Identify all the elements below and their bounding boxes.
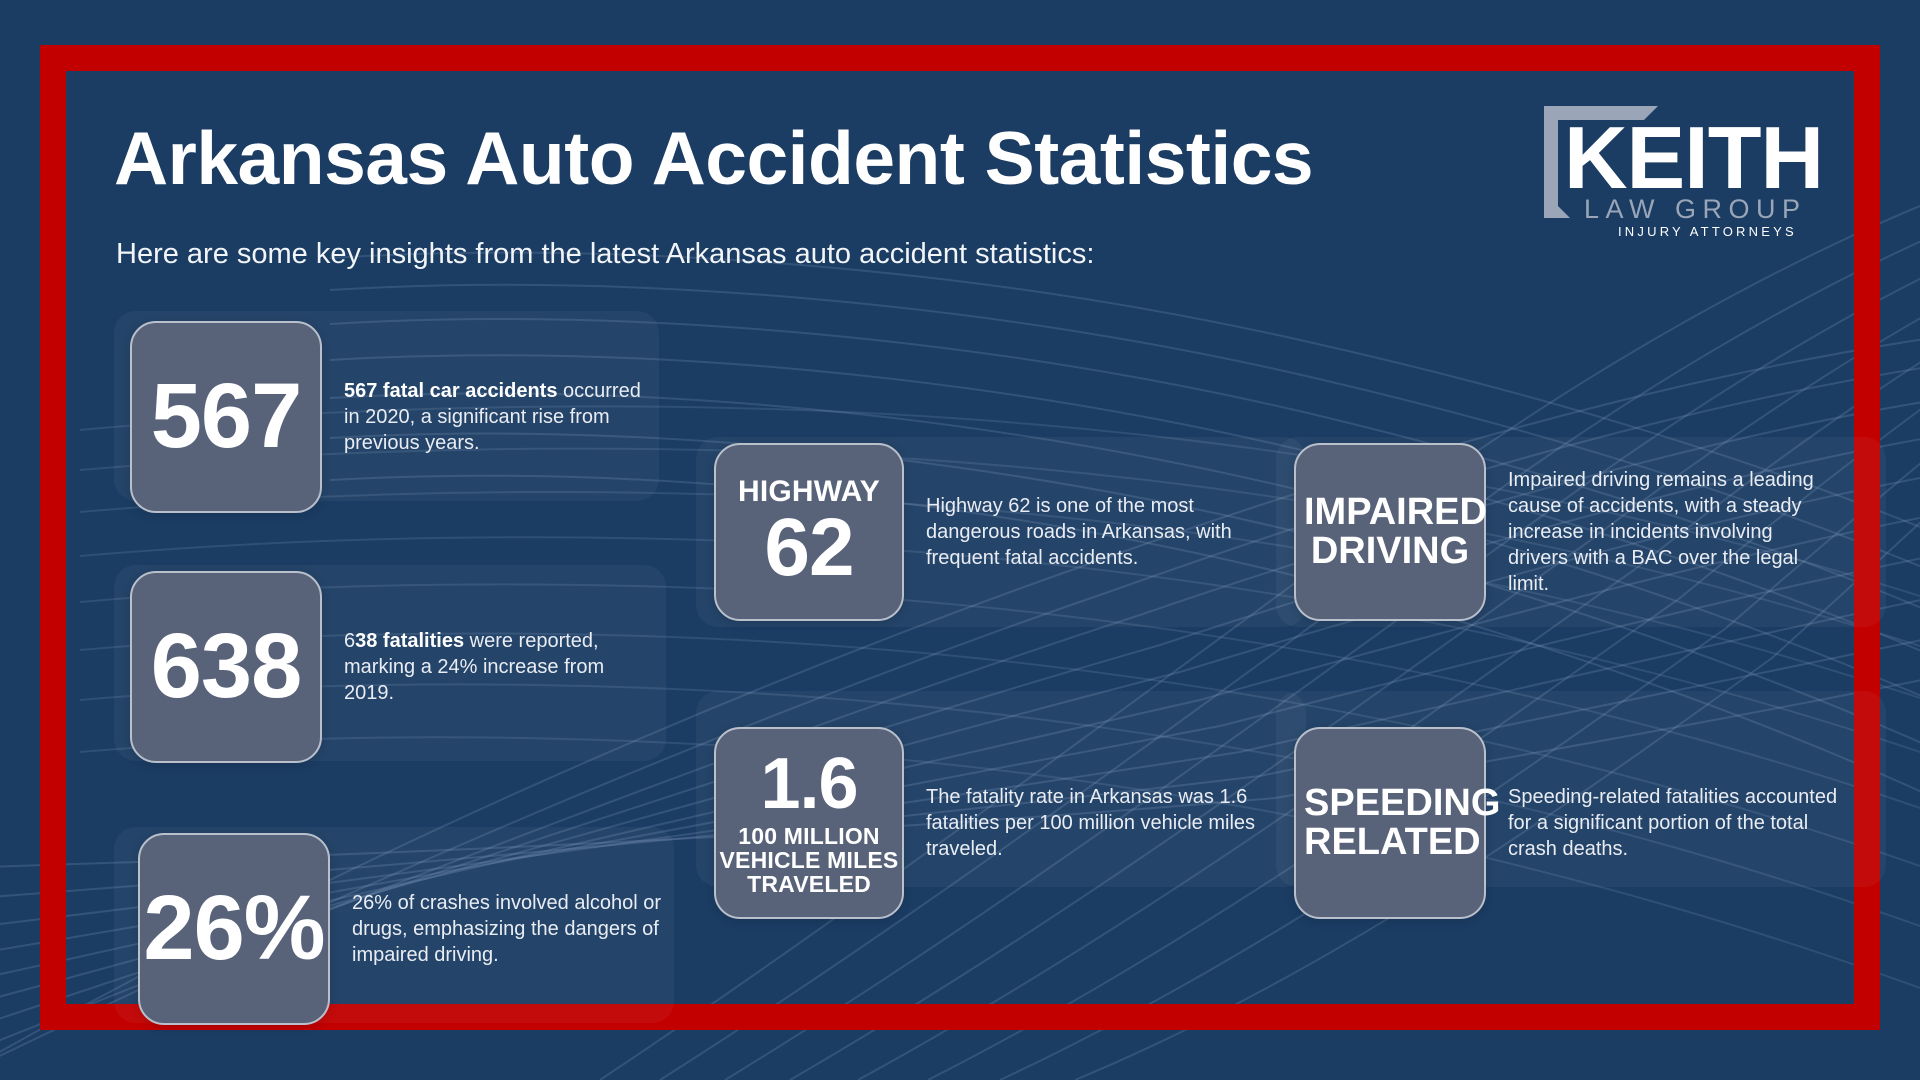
- stat-impaired-driving-description: Impaired driving remains a leading cause…: [1508, 467, 1838, 597]
- page-title: Arkansas Auto Accident Statistics: [114, 119, 1313, 197]
- stat-26-percent: 26% 26% of crashes involved alcohol or d…: [138, 833, 662, 1025]
- page-subtitle: Here are some key insights from the late…: [116, 237, 1094, 271]
- stat-567-description: 567 fatal car accidents occurred in 2020…: [344, 378, 654, 456]
- stat-26-percent-description: 26% of crashes involved alcohol or drugs…: [352, 890, 662, 968]
- svg-text:INJURY ATTORNEYS: INJURY ATTORNEYS: [1618, 224, 1797, 239]
- stat-highway-62-description: Highway 62 is one of the most dangerous …: [926, 493, 1256, 571]
- stat-speeding-related-box: SPEEDING RELATED: [1294, 727, 1486, 919]
- stat-567-box: 567: [130, 321, 322, 513]
- stat-26-percent-box: 26%: [138, 833, 330, 1025]
- stat-highway-62-value: 62: [764, 509, 853, 587]
- stat-567-value: 567: [151, 373, 302, 460]
- stat-speeding-related-description: Speeding-related fatalities accounted fo…: [1508, 784, 1838, 862]
- stat-567: 567 567 fatal car accidents occurred in …: [130, 321, 654, 513]
- stat-fatality-rate-value: 1.6: [760, 750, 857, 818]
- stat-impaired-driving-label: IMPAIRED DRIVING: [1304, 493, 1476, 571]
- stat-638-desc-bold: 38 fatalities: [355, 630, 464, 652]
- stat-638: 638 638 fatalities were reported, markin…: [130, 571, 654, 763]
- stat-638-box: 638: [130, 571, 322, 763]
- stat-fatality-rate: 1.6 100 MILLION VEHICLE MILES TRAVELED T…: [714, 727, 1256, 919]
- stat-impaired-driving-box: IMPAIRED DRIVING: [1294, 443, 1486, 621]
- stat-fatality-rate-box: 1.6 100 MILLION VEHICLE MILES TRAVELED: [714, 727, 904, 919]
- stat-fatality-rate-description: The fatality rate in Arkansas was 1.6 fa…: [926, 784, 1256, 862]
- keith-law-group-logo: KEITH LAW GROUP INJURY ATTORNEYS: [1540, 88, 1830, 240]
- svg-text:LAW GROUP: LAW GROUP: [1584, 194, 1807, 224]
- stat-highway-62: HIGHWAY 62 Highway 62 is one of the most…: [714, 443, 1256, 621]
- stat-638-desc-lead: 6: [344, 630, 355, 652]
- stat-speeding-related: SPEEDING RELATED Speeding-related fatali…: [1294, 727, 1838, 919]
- stat-638-description: 638 fatalities were reported, marking a …: [344, 628, 654, 706]
- stat-26-percent-value: 26%: [143, 885, 324, 972]
- stat-567-desc-bold: 567 fatal car accidents: [344, 380, 557, 402]
- stat-fatality-rate-sub: 100 MILLION VEHICLE MILES TRAVELED: [719, 824, 899, 896]
- stat-impaired-driving: IMPAIRED DRIVING Impaired driving remain…: [1294, 443, 1838, 621]
- svg-text:KEITH: KEITH: [1564, 108, 1823, 207]
- stat-speeding-related-label: SPEEDING RELATED: [1304, 784, 1476, 862]
- stat-highway-62-box: HIGHWAY 62: [714, 443, 904, 621]
- infographic-content: Arkansas Auto Accident Statistics Here a…: [66, 71, 1854, 1004]
- stat-638-value: 638: [151, 623, 302, 710]
